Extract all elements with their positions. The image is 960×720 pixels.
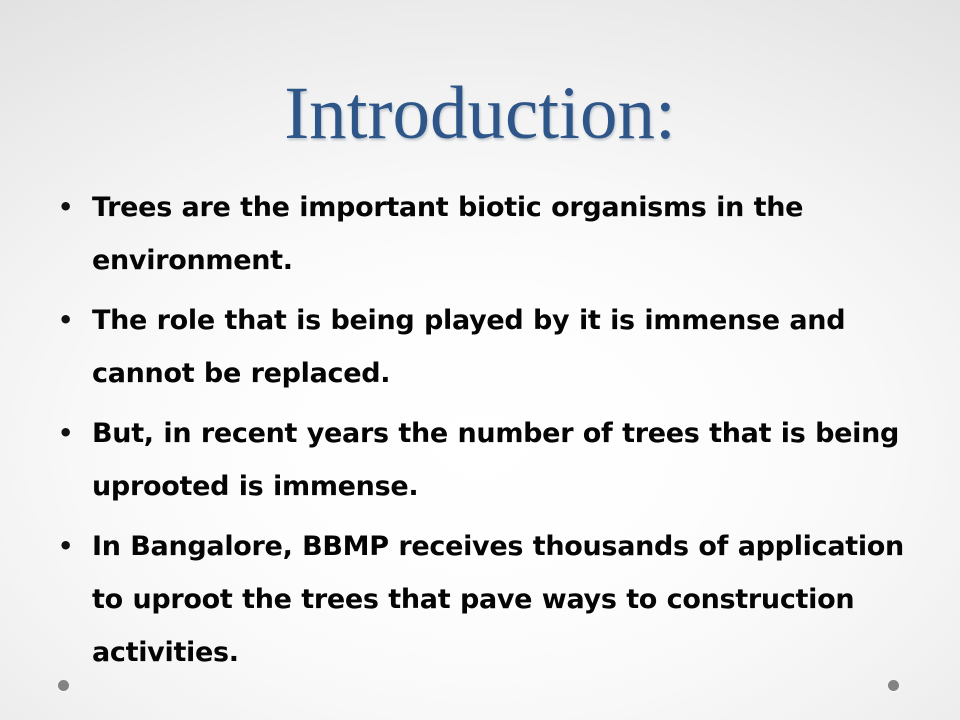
slide-body-container: • Trees are the important biotic organis… [46, 181, 930, 686]
list-item-text: But, in recent years the number of trees… [92, 407, 930, 513]
list-item: • But, in recent years the number of tre… [46, 407, 930, 513]
list-item: • The role that is being played by it is… [46, 294, 930, 400]
list-item-text: The role that is being played by it is i… [92, 294, 930, 400]
list-item-text: In Bangalore, BBMP receives thousands of… [92, 520, 930, 679]
bullet-list: • Trees are the important biotic organis… [46, 181, 930, 679]
bullet-point-icon: • [58, 520, 72, 573]
bullet-point-icon: • [58, 407, 72, 460]
slide-title-container: Introduction: [0, 76, 960, 151]
presentation-slide: Introduction: • Trees are the important … [0, 0, 960, 720]
bullet-point-icon: • [58, 181, 72, 234]
page-title: Introduction: [284, 76, 676, 151]
list-item: • Trees are the important biotic organis… [46, 181, 930, 287]
footer-decoration-dot-left [58, 680, 69, 691]
footer-decoration-dot-right [888, 680, 899, 691]
bullet-point-icon: • [58, 294, 72, 347]
list-item: • In Bangalore, BBMP receives thousands … [46, 520, 930, 679]
list-item-text: Trees are the important biotic organisms… [92, 181, 930, 287]
